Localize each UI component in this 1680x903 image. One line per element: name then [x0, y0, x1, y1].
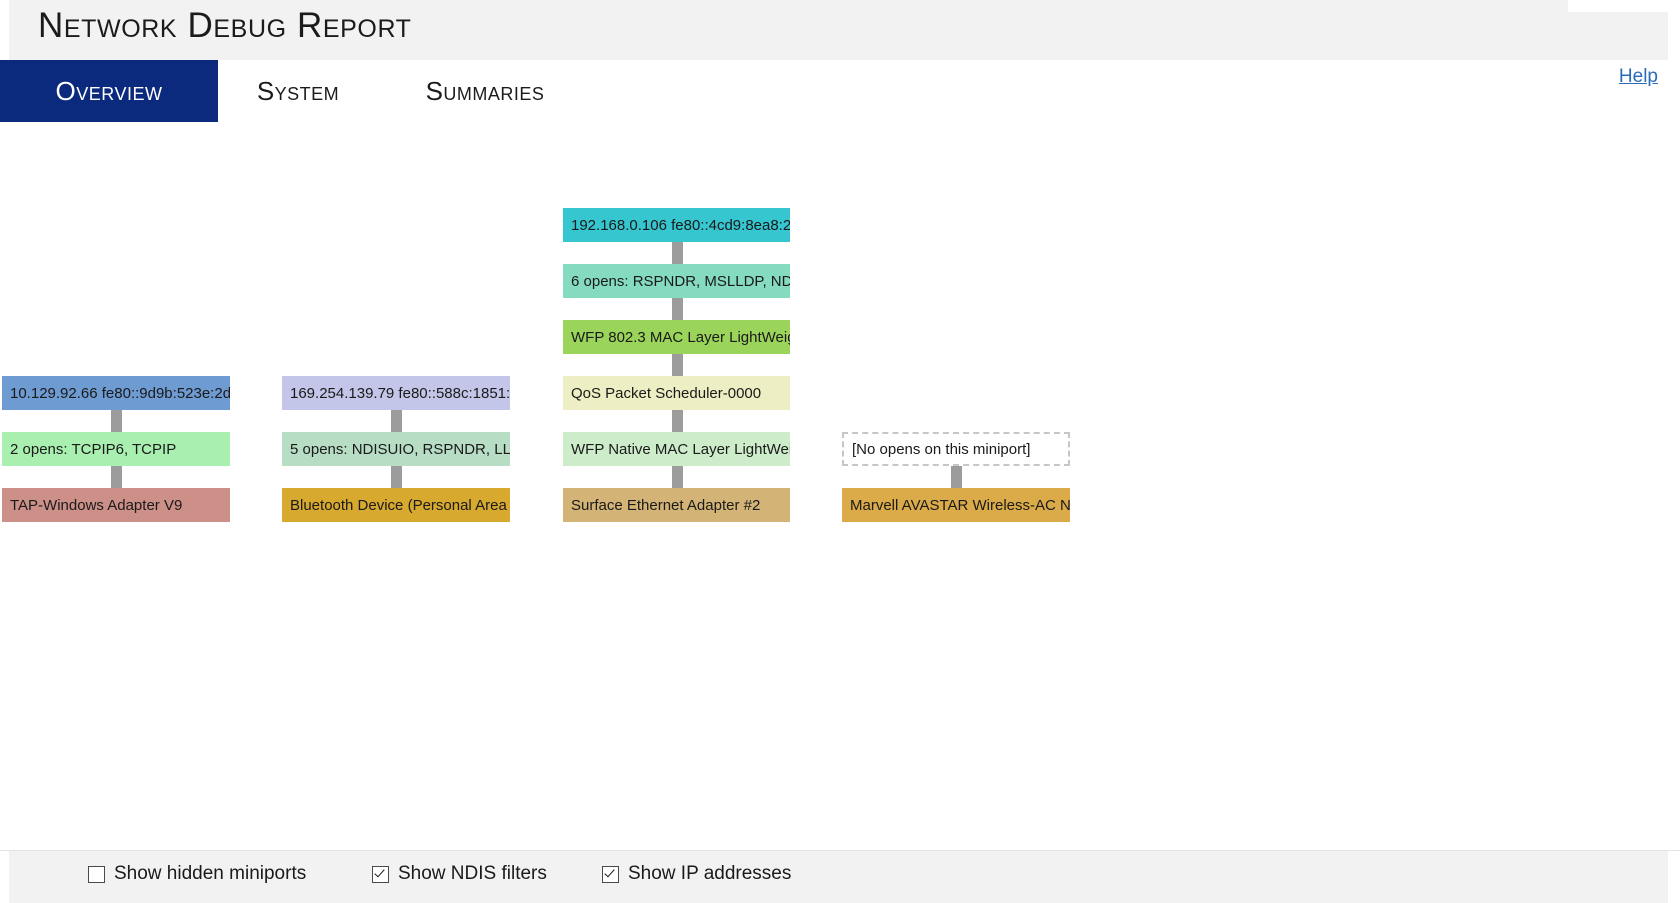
- checkbox-show-ndis-filters[interactable]: [372, 866, 389, 883]
- footer-options-bar: Show hidden miniports Show NDIS filters …: [0, 850, 1680, 903]
- option-label: Show NDIS filters: [398, 863, 547, 885]
- stack-node-miniport[interactable]: TAP-Windows Adapter V9: [2, 488, 230, 522]
- checkbox-show-hidden-miniports[interactable]: [88, 866, 105, 883]
- stack-node-opens[interactable]: 6 opens: RSPNDR, MSLLDP, NDISUIO: [563, 264, 790, 298]
- stack-connector: [672, 354, 683, 376]
- stack-node-miniport[interactable]: Marvell AVASTAR Wireless-AC Netw: [842, 488, 1070, 522]
- stack-node-ip-address[interactable]: 192.168.0.106 fe80::4cd9:8ea8:2bc0:e: [563, 208, 790, 242]
- title-bar: Network Debug Report: [0, 0, 1680, 61]
- stack-connector: [672, 242, 683, 264]
- stack-connector: [672, 298, 683, 320]
- window-edge-left: [0, 0, 9, 60]
- stack-connector: [391, 410, 402, 432]
- stack-connector: [111, 410, 122, 432]
- tab-system[interactable]: System: [238, 60, 358, 122]
- option-label: Show IP addresses: [628, 863, 791, 885]
- stack-connector: [111, 466, 122, 488]
- page-title: Network Debug Report: [38, 6, 412, 46]
- footer-edge-left: [0, 851, 9, 903]
- stack-node-opens[interactable]: 5 opens: NDISUIO, RSPNDR, LLTDIO,: [282, 432, 510, 466]
- stack-connector: [672, 466, 683, 488]
- tab-overview[interactable]: Overview: [0, 60, 218, 122]
- stack-node-ip-address[interactable]: 10.129.92.66 fe80::9d9b:523e:2d70:2: [2, 376, 230, 410]
- stack-node-opens[interactable]: 2 opens: TCPIP6, TCPIP: [2, 432, 230, 466]
- option-show-ndis-filters[interactable]: Show NDIS filters: [372, 863, 547, 885]
- stack-node-ip-address[interactable]: 169.254.139.79 fe80::588c:1851:f711:: [282, 376, 510, 410]
- option-show-ip-addresses[interactable]: Show IP addresses: [602, 863, 791, 885]
- tab-strip: Overview System Summaries Help: [0, 60, 1680, 122]
- stack-node-filter[interactable]: QoS Packet Scheduler-0000: [563, 376, 790, 410]
- stack-connector: [951, 466, 962, 488]
- footer-edge-right: [1668, 851, 1680, 903]
- help-link[interactable]: Help: [1619, 66, 1658, 88]
- network-stack-diagram: 10.129.92.66 fe80::9d9b:523e:2d70:22 ope…: [0, 122, 1680, 850]
- stack-node-filter[interactable]: WFP Native MAC Layer LightWeight: [563, 432, 790, 466]
- stack-node-miniport[interactable]: Bluetooth Device (Personal Area Net: [282, 488, 510, 522]
- stack-node-no-opens[interactable]: [No opens on this miniport]: [842, 432, 1070, 466]
- window-chrome-sliver: [1568, 0, 1680, 12]
- option-show-hidden-miniports[interactable]: Show hidden miniports: [88, 863, 306, 885]
- stack-node-miniport[interactable]: Surface Ethernet Adapter #2: [563, 488, 790, 522]
- tab-summaries[interactable]: Summaries: [405, 60, 565, 122]
- option-label: Show hidden miniports: [114, 863, 306, 885]
- stack-connector: [391, 466, 402, 488]
- checkbox-show-ip-addresses[interactable]: [602, 866, 619, 883]
- stack-node-filter[interactable]: WFP 802.3 MAC Layer LightWeight Fi: [563, 320, 790, 354]
- stack-connector: [672, 410, 683, 432]
